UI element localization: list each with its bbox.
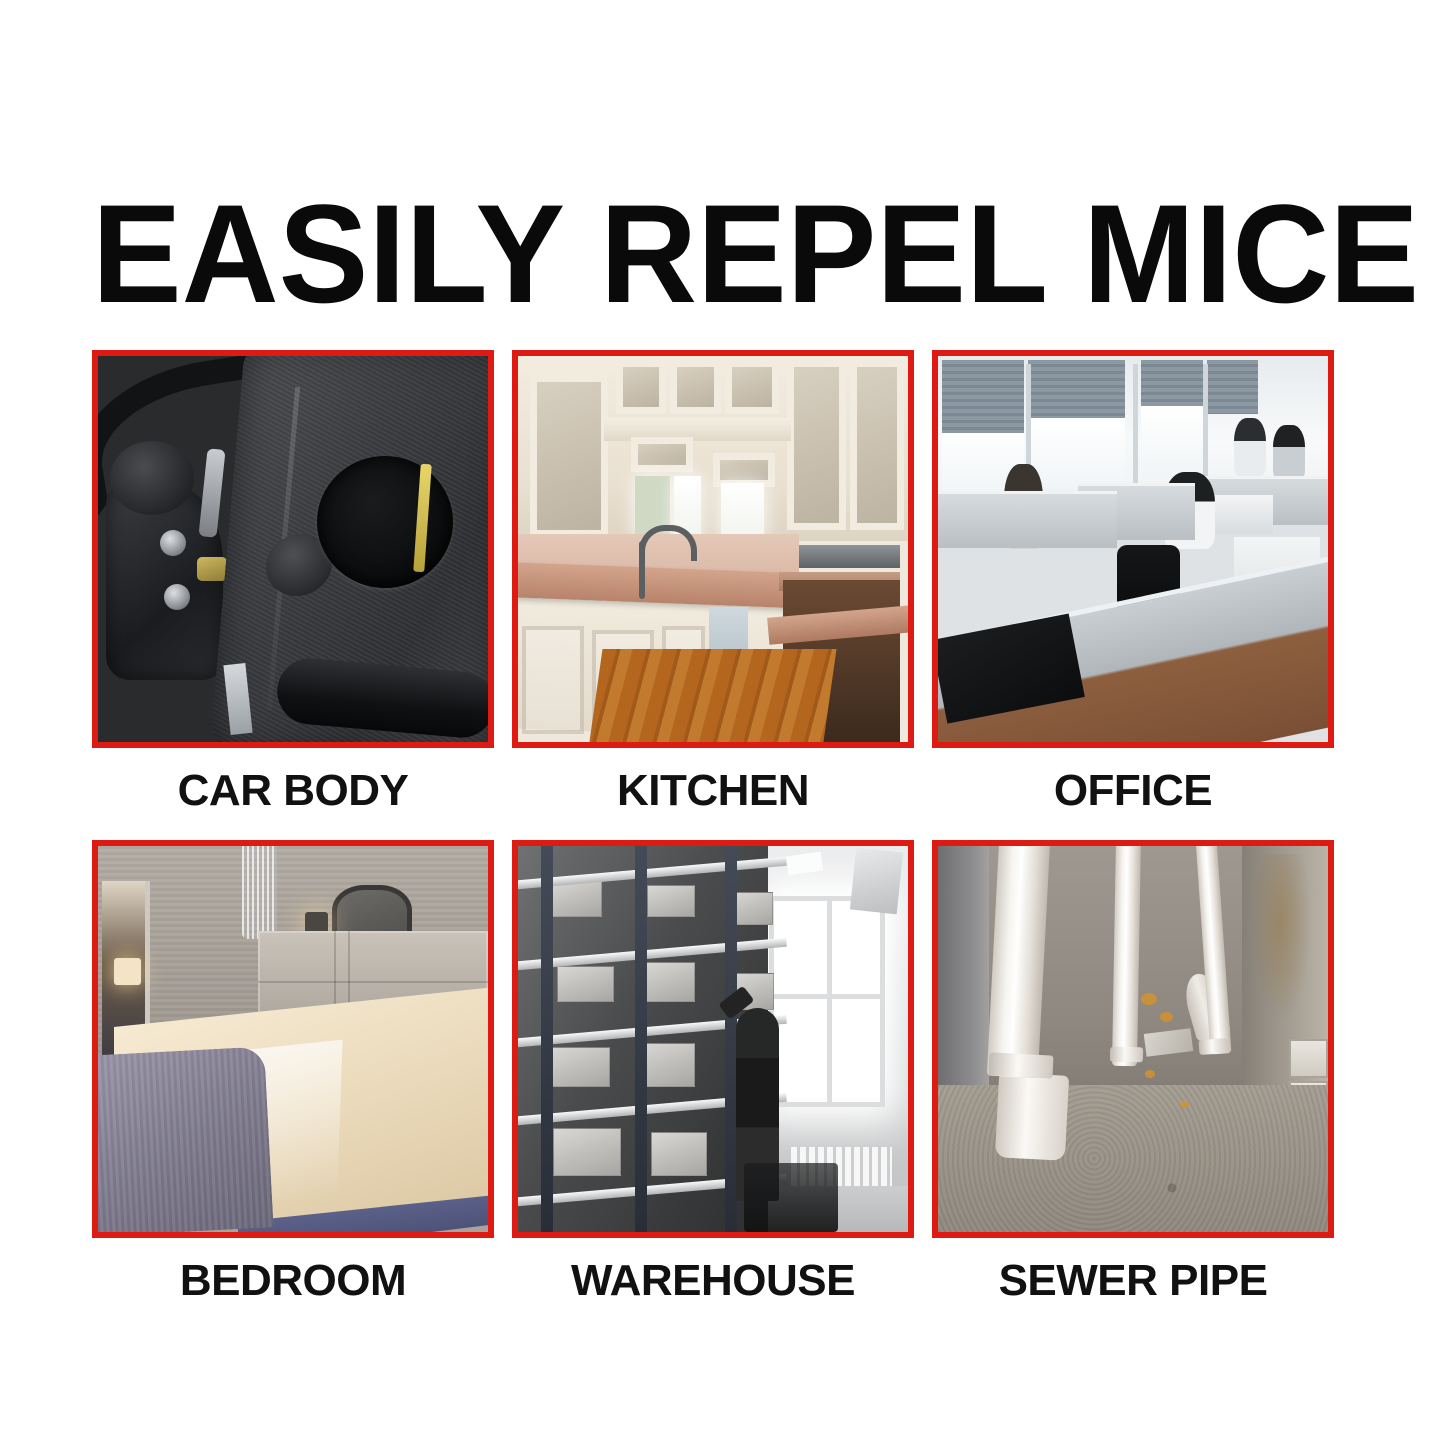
photo-frame-bedroom <box>92 840 494 1238</box>
sewer-pipes-photo <box>938 846 1328 1232</box>
floor-lamp <box>114 958 141 985</box>
warehouse-cart <box>744 1163 838 1232</box>
caption-car-body: CAR BODY <box>92 748 494 834</box>
caption-sewer-pipe: SEWER PIPE <box>932 1238 1334 1324</box>
photo-frame-sewer-pipe <box>932 840 1334 1238</box>
pvc-elbow-left <box>994 1072 1069 1160</box>
storage-box-7 <box>553 1128 621 1176</box>
window-blind-2 <box>1028 360 1126 418</box>
poster-page: EASILY REPEL MICE <box>0 0 1445 1445</box>
grid-cell-sewer-pipe: SEWER PIPE <box>932 840 1334 1324</box>
office-worker-4 <box>1273 425 1304 479</box>
glass-cabinet-3 <box>670 360 721 414</box>
ceiling-duct <box>850 848 903 914</box>
window-blind-4 <box>1207 360 1258 414</box>
bedroom-interior-photo <box>98 846 488 1232</box>
cooktop <box>799 545 900 568</box>
floor-debris-1 <box>1141 993 1157 1005</box>
office-worker-3 <box>1234 418 1265 476</box>
glass-cabinet-4 <box>725 360 780 414</box>
office-window-3 <box>1141 406 1203 475</box>
glass-cabinet-6 <box>850 360 905 530</box>
caption-bedroom: BEDROOM <box>92 1238 494 1324</box>
fluid-cap <box>110 441 194 515</box>
glass-cabinet-8 <box>713 453 775 488</box>
rack-post-2 <box>635 846 647 1232</box>
scene-grid: CAR BODY <box>92 350 1334 1324</box>
pvc-pipe-middle <box>1112 846 1141 1066</box>
kitchen-interior-photo <box>518 356 908 742</box>
office-cubicles-photo <box>938 356 1328 742</box>
window-blind-1 <box>942 360 1024 433</box>
rack-post-1 <box>541 846 553 1232</box>
bolt-c <box>197 557 227 581</box>
glass-cabinet-1 <box>530 375 608 537</box>
wall-tile-1 <box>1289 1039 1328 1078</box>
floor-debris-3 <box>1145 1070 1155 1078</box>
bolt-b <box>164 584 190 610</box>
photo-frame-kitchen <box>512 350 914 748</box>
glass-cabinet-2 <box>616 360 667 414</box>
pipe-collar-left <box>988 1053 1053 1079</box>
page-title: EASILY REPEL MICE <box>92 190 1311 318</box>
storage-box-8 <box>651 1132 708 1176</box>
storage-box-1 <box>549 881 602 918</box>
pipe-collar-right <box>1199 1038 1229 1055</box>
crystal-chandelier <box>242 846 277 939</box>
storage-box-5 <box>549 1047 610 1088</box>
pipe-collar-middle <box>1109 1046 1142 1062</box>
cubicle-partition-1 <box>938 491 1117 548</box>
bolt-a <box>160 530 186 556</box>
grid-cell-car-body: CAR BODY <box>92 350 494 834</box>
rack-post-3 <box>725 846 737 1232</box>
storage-box-6 <box>639 1043 696 1087</box>
photo-frame-car-body <box>92 350 494 748</box>
caption-office: OFFICE <box>932 748 1334 834</box>
oil-fill-port <box>317 456 453 588</box>
storage-box-4 <box>643 962 696 1003</box>
window-blind-3 <box>1141 360 1203 406</box>
storage-box-2 <box>647 885 696 918</box>
caption-kitchen: KITCHEN <box>512 748 914 834</box>
cabinet-panel-1 <box>522 626 584 734</box>
photo-frame-warehouse <box>512 840 914 1238</box>
glass-cabinet-5 <box>787 360 846 530</box>
grid-cell-office: OFFICE <box>932 350 1334 834</box>
office-window-2 <box>1028 418 1126 487</box>
wall-stain <box>1250 854 1312 1024</box>
storage-box-3 <box>557 966 614 1003</box>
glass-cabinet-7 <box>631 437 693 472</box>
car-engine-bay-photo <box>98 356 488 742</box>
grid-cell-bedroom: BEDROOM <box>92 840 494 1324</box>
hardwood-floor <box>589 649 836 742</box>
bed-end-bench <box>98 1046 274 1232</box>
grid-cell-kitchen: KITCHEN <box>512 350 914 834</box>
warehouse-window <box>769 896 884 1107</box>
grid-cell-warehouse: WAREHOUSE <box>512 840 914 1324</box>
warehouse-shelving-photo <box>518 846 908 1232</box>
kitchen-faucet <box>639 541 645 599</box>
caption-warehouse: WAREHOUSE <box>512 1238 914 1324</box>
photo-frame-office <box>932 350 1334 748</box>
window-mullion-2 <box>1133 364 1138 495</box>
floor-debris-4 <box>1180 1101 1189 1108</box>
